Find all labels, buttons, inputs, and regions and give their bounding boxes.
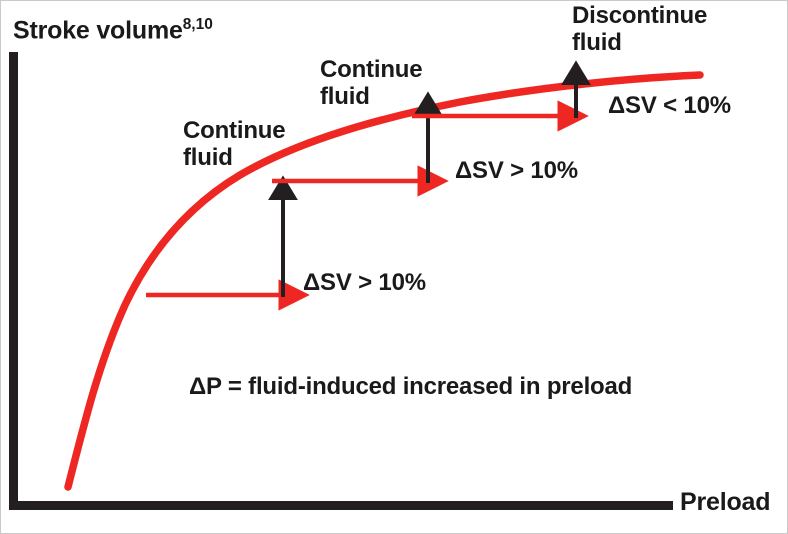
delta-sv-label-3: ΔSV < 10% (608, 93, 731, 120)
y-axis-line (9, 52, 18, 510)
delta-sv-label-1: ΔSV > 10% (303, 270, 426, 297)
y-axis-label: Stroke volume8,10 (13, 16, 213, 44)
caption-delta-p: ΔP = fluid-induced increased in preload (189, 374, 632, 401)
y-axis-label-text: Stroke volume (13, 16, 183, 44)
annotation-continue-fluid-2: Continue fluid (320, 57, 422, 111)
x-axis-label: Preload (680, 488, 770, 516)
frank-starling-figure: Stroke volume8,10 Preload Continue fluid… (0, 0, 788, 534)
y-axis-label-superscript: 8,10 (183, 16, 213, 33)
annotation-discontinue-fluid: Discontinue fluid (572, 3, 707, 57)
x-axis-line (9, 501, 673, 510)
step-1-arrows (146, 197, 283, 297)
delta-sv-label-2: ΔSV > 10% (455, 158, 578, 185)
annotation-continue-fluid-1: Continue fluid (183, 118, 285, 172)
